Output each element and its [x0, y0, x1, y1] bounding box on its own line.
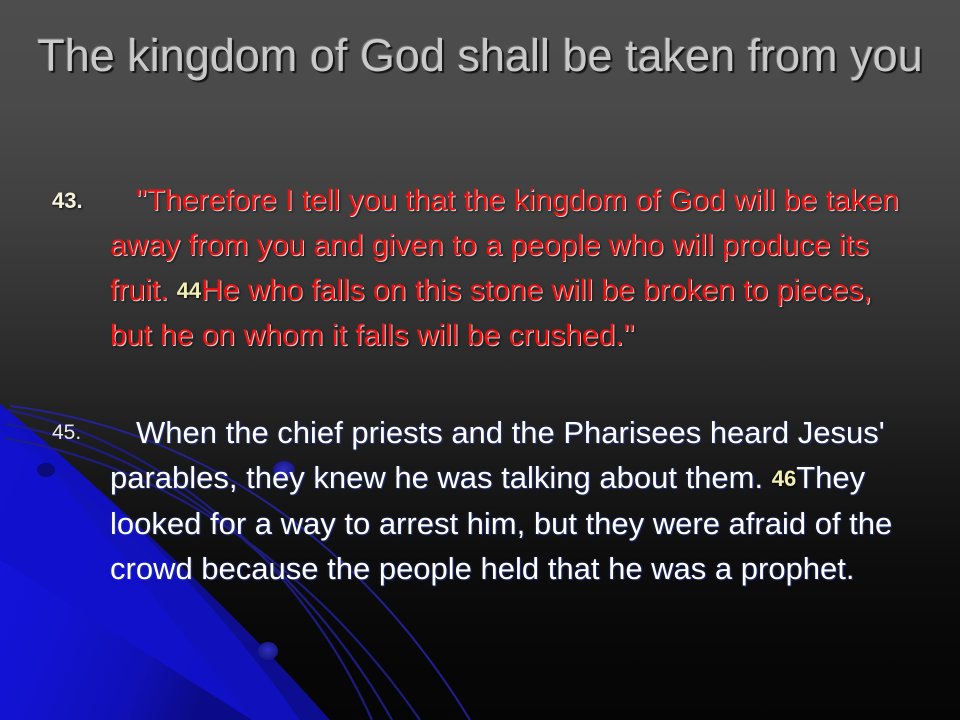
verse-text-43: "Therefore I tell you that the kingdom o…: [110, 178, 912, 358]
arc-node-dot-2: [258, 642, 278, 660]
verse-paragraph-45: 45. When the chief priests and the Phari…: [52, 410, 932, 591]
blue-wedge-decoration: [0, 0, 960, 720]
page-title: The kingdom of God shall be taken from y…: [0, 24, 960, 88]
verse-text-43-part-2: He who falls on this stone will be broke…: [110, 274, 872, 352]
verse-paragraph-43: 43. "Therefore I tell you that the kingd…: [52, 178, 912, 358]
verse-number-43: 43.: [52, 178, 110, 223]
slide-canvas: The kingdom of God shall be taken from y…: [0, 0, 960, 720]
verse-text-45-part-1: When the chief priests and the Pharisees…: [110, 415, 885, 495]
verse-text-45: When the chief priests and the Pharisees…: [110, 410, 932, 591]
inline-verse-marker-46: 46: [772, 466, 796, 491]
verse-number-45: 45.: [52, 410, 110, 455]
inline-verse-marker-44: 44: [177, 278, 201, 303]
